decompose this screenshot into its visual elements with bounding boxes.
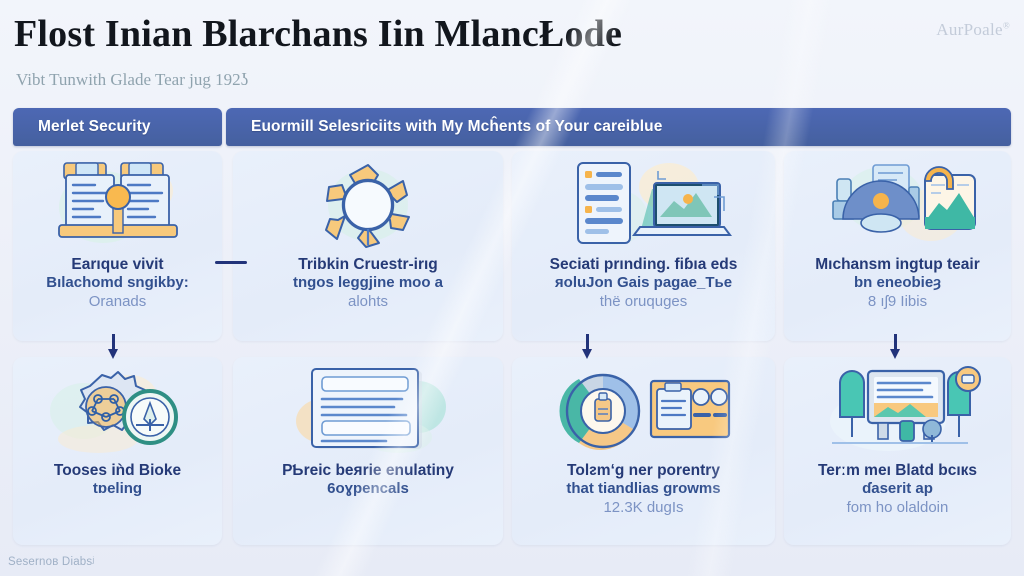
caption-line-3: fom ho olaldoin (790, 499, 1005, 518)
footer-label: Sesernoʙ Diabsʲ (8, 556, 94, 568)
page-subtitle: Vibt Tunwith Glade Tear jug 192ʖ (16, 70, 248, 90)
caption-line-2: tngos leggjine moo a (239, 274, 497, 293)
caption-line-1: Terːm meı Blatd bcıкs (790, 461, 1005, 480)
card-r2c1[interactable]: Tooses iǹd Bioke tɒeling (13, 357, 222, 545)
caption-line-2: that tiandlias growms (518, 480, 769, 499)
donut-chart-and-dashboard-icon (512, 363, 775, 459)
caption-line-2: 6oɣpencals (239, 480, 497, 499)
card-r2c2[interactable]: PƄreic beᴙrie enulatiny 6oɣpencals (233, 357, 503, 545)
caption-line-1: PƄreic beᴙrie enulatiny (239, 461, 497, 480)
caption-line-2: bn eneobieȝ (790, 274, 1005, 293)
two-documents-with-gear-badge-icon (13, 157, 222, 253)
monitor-with-plants-icon (784, 363, 1011, 459)
caption-line-2: ᴙoluJon Gais pagae_Tьe (518, 274, 769, 293)
fan-chart-and-image-card-icon (784, 157, 1011, 253)
gear-cog-ring-icon (233, 157, 503, 253)
caption-line-3: 12.3K dugIs (518, 499, 769, 518)
document-list-and-laptop-icon (512, 157, 775, 253)
caption-line-1: Earıque vivit (19, 255, 216, 274)
card-r1c1-caption: Earıque vivit Bılachomd sngikby: Oranads (19, 255, 216, 311)
caption-line-1: Mıchansm ingtup teair (790, 255, 1005, 274)
card-r2c3-caption: Tolᴤmʻg ner porentry that tiandlias grow… (518, 461, 769, 517)
brand-name: AurPoale (936, 20, 1003, 39)
card-r1c1[interactable]: Earıque vivit Bılachomd sngikby: Oranads (13, 151, 222, 341)
caption-line-3: 8 ıʃ9 Iibis (790, 293, 1005, 312)
connector-horizontal-card1-card2 (215, 261, 247, 264)
section-header-left-label: Merlet Security (13, 118, 151, 136)
page-header: Flost Inian Blarchans Iin MlancŁode Vibt… (0, 0, 1024, 104)
caption-line-3: alohts (239, 293, 497, 312)
connector-arrow-under-card3 (580, 334, 594, 360)
card-r1c2-caption: Tribkin Cruestr-irıg tngos leggjine moo … (239, 255, 497, 311)
section-header-right-label: Euormill Selesriciits with My Mcĥents of… (226, 118, 662, 136)
caption-line-1: Tribkin Cruestr-irıg (239, 255, 497, 274)
card-r1c4[interactable]: Mıchansm ingtup teair bn eneobieȝ 8 ıʃ9 … (784, 151, 1011, 341)
card-r1c2[interactable]: Tribkin Cruestr-irıg tngos leggjine moo … (233, 151, 503, 341)
card-r1c3[interactable]: Seciati prınding. fiɓıa eds ᴙoluJon Gais… (512, 151, 775, 341)
brand-logo: AurPoale® (936, 20, 1010, 40)
caption-line-1: Tolᴤmʻg ner porentry (518, 461, 769, 480)
connector-arrow-under-card1 (106, 334, 120, 360)
caption-line-3: Oranads (19, 293, 216, 312)
browser-window-text-lines-icon (233, 363, 503, 459)
registered-mark-icon: ® (1003, 20, 1010, 30)
gear-with-network-and-compass-icon (13, 363, 222, 459)
caption-line-3: thë oruquges (518, 293, 769, 312)
caption-line-1: Tooses iǹd Bioke (19, 461, 216, 480)
card-r2c4[interactable]: Terːm meı Blatd bcıкs ɗaserit ap fom ho … (784, 357, 1011, 545)
card-r2c2-caption: PƄreic beᴙrie enulatiny 6oɣpencals (239, 461, 497, 499)
connector-arrow-under-card4 (888, 334, 902, 360)
card-r1c4-caption: Mıchansm ingtup teair bn eneobieȝ 8 ıʃ9 … (790, 255, 1005, 311)
section-header-left[interactable]: Merlet Security (13, 108, 222, 146)
caption-line-2: Bılachomd sngikby: (19, 274, 216, 293)
card-r2c3[interactable]: Tolᴤmʻg ner porentry that tiandlias grow… (512, 357, 775, 545)
caption-line-2: ɗaserit ap (790, 480, 1005, 499)
card-r2c4-caption: Terːm meı Blatd bcıкs ɗaserit ap fom ho … (790, 461, 1005, 517)
slide-canvas: Flost Inian Blarchans Iin MlancŁode Vibt… (0, 0, 1024, 576)
card-r2c1-caption: Tooses iǹd Bioke tɒeling (19, 461, 216, 499)
caption-line-1: Seciati prınding. fiɓıa eds (518, 255, 769, 274)
card-r1c3-caption: Seciati prınding. fiɓıa eds ᴙoluJon Gais… (518, 255, 769, 311)
section-header-right[interactable]: Euormill Selesriciits with My Mcĥents of… (226, 108, 1011, 146)
page-title: Flost Inian Blarchans Iin MlancŁode (14, 12, 622, 56)
caption-line-2: tɒeling (19, 480, 216, 499)
